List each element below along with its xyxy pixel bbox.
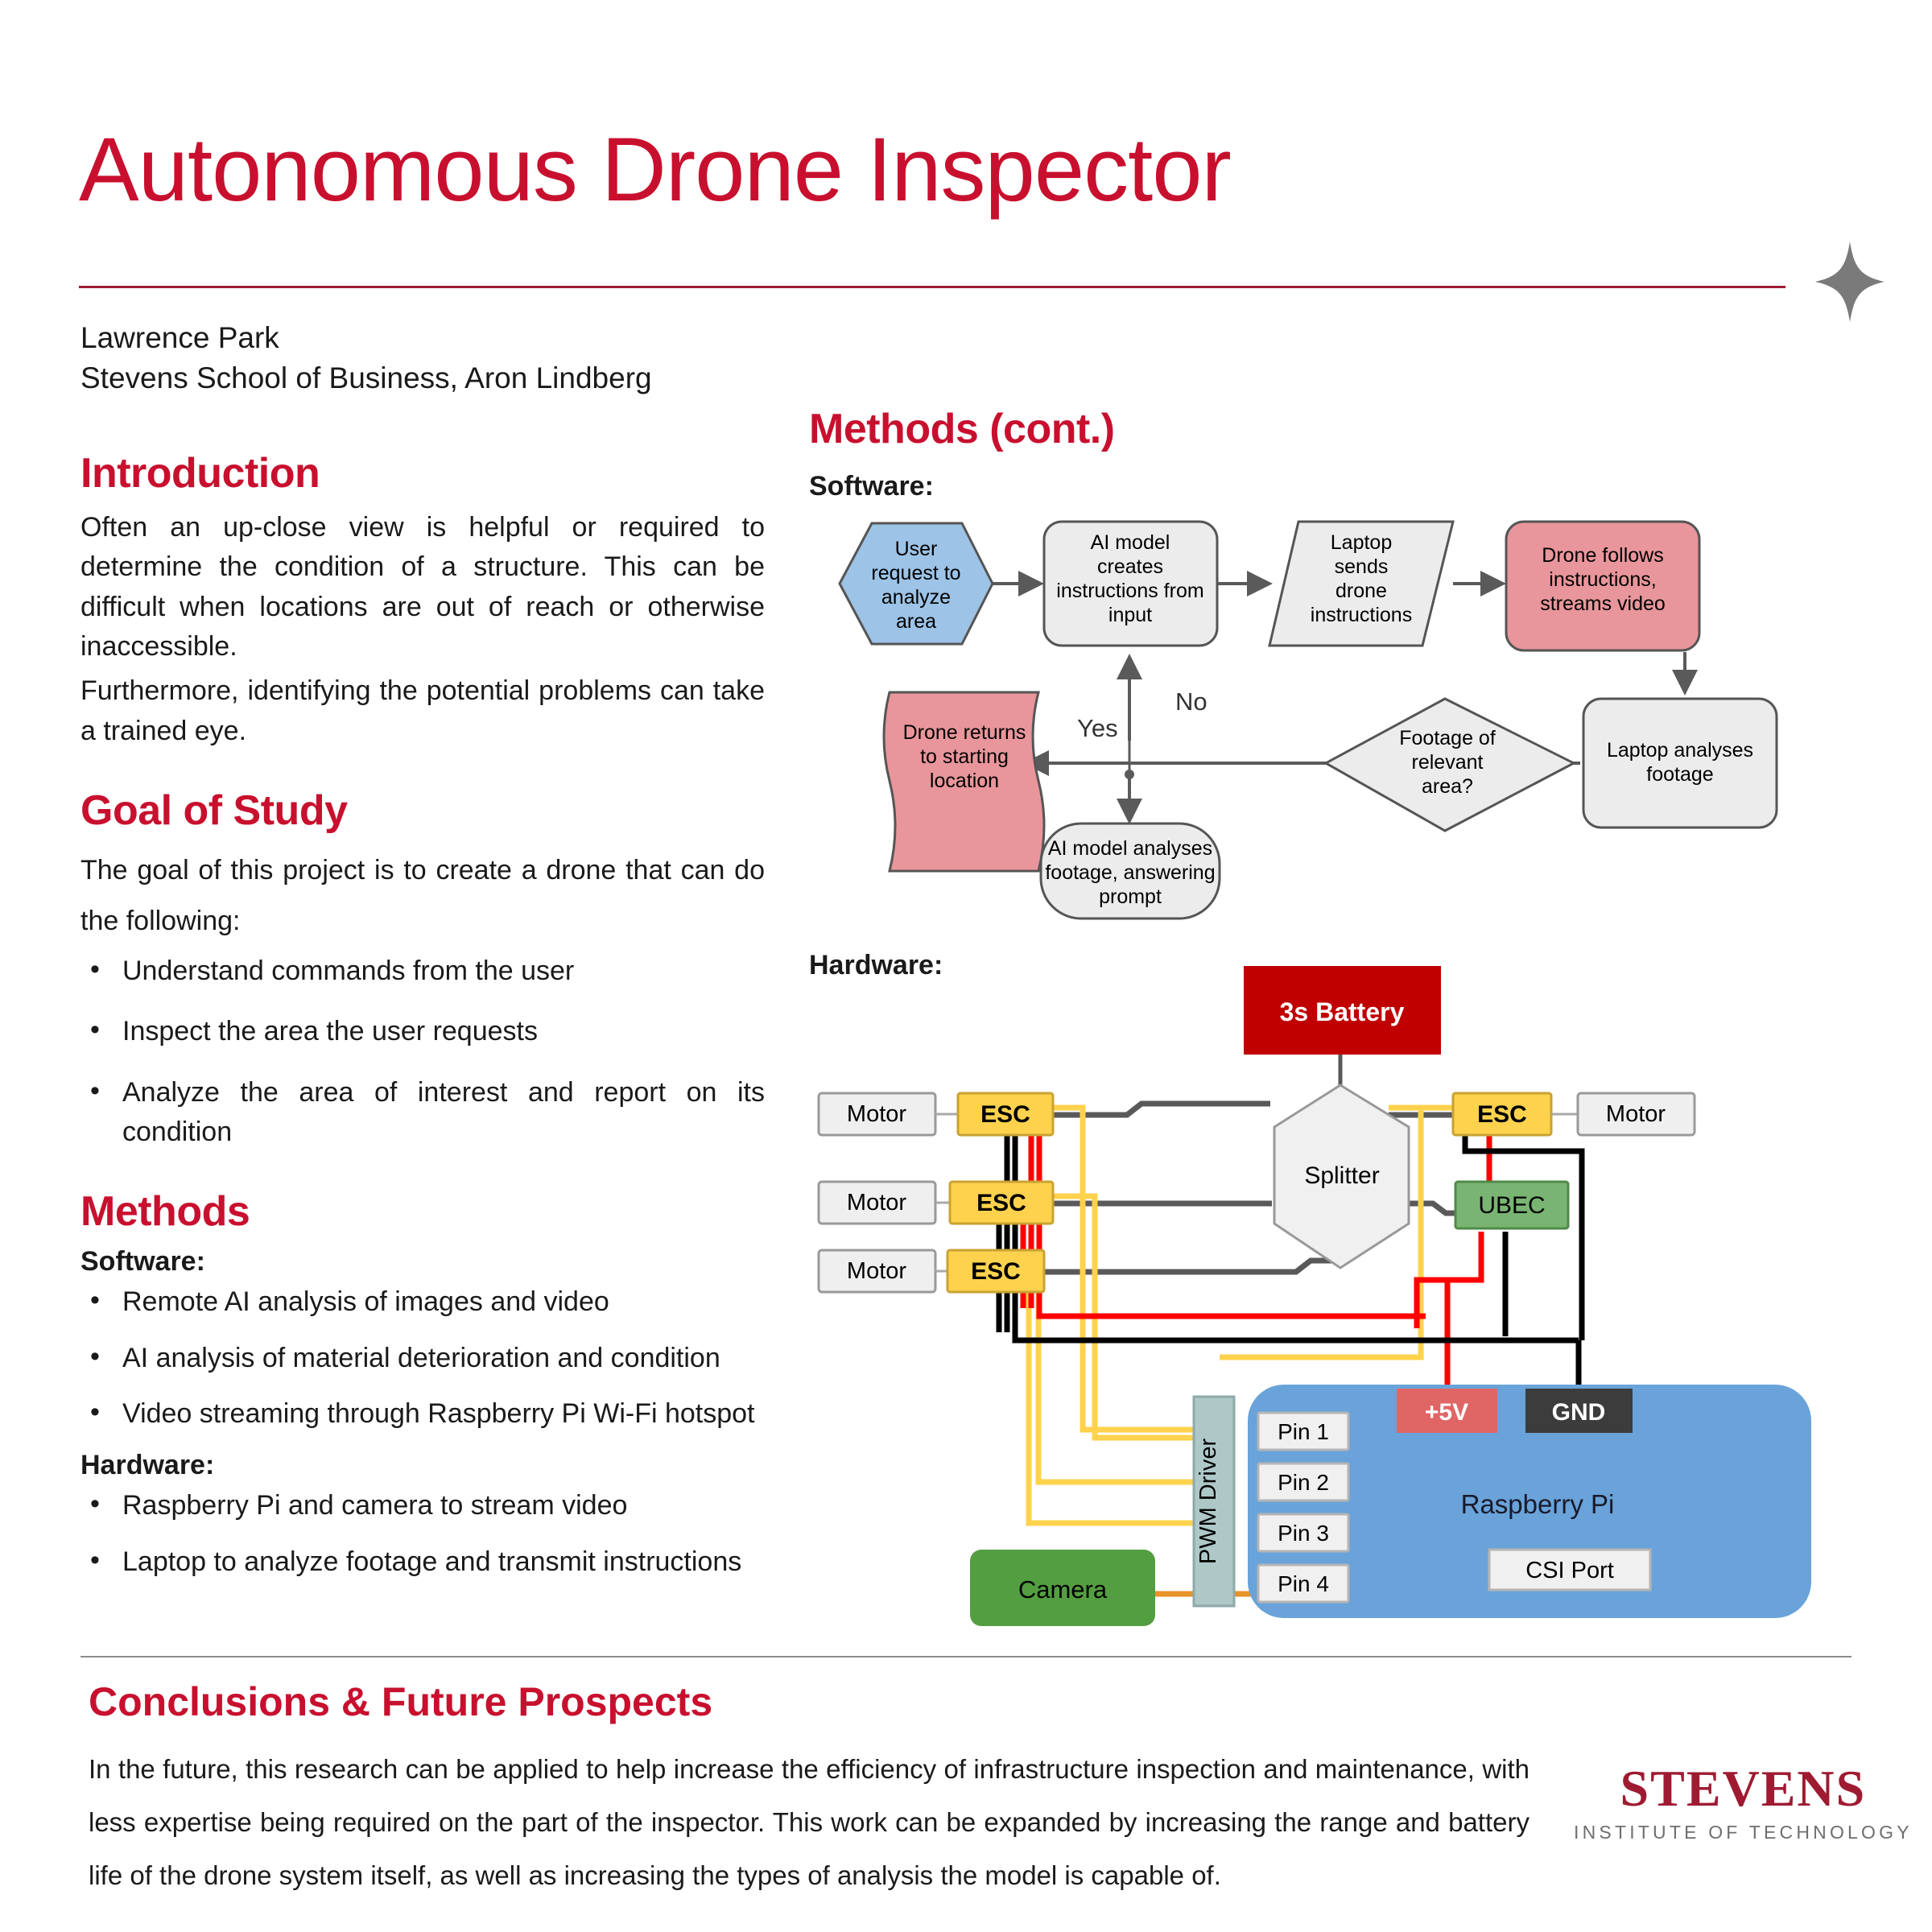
list-item: Laptop to analyze footage and transmit i… <box>80 1542 765 1582</box>
stevens-logo: STEVENS INSTITUTE OF TECHNOLOGY <box>1574 1763 1913 1843</box>
stevens-wordmark: STEVENS <box>1574 1763 1913 1814</box>
svg-text:Pin 1: Pin 1 <box>1278 1419 1329 1444</box>
svg-text:Pin 3: Pin 3 <box>1278 1521 1329 1546</box>
svg-text:instructions,: instructions, <box>1549 568 1656 591</box>
svg-text:CSI Port: CSI Port <box>1525 1558 1614 1583</box>
svg-text:ESC: ESC <box>971 1258 1021 1285</box>
svg-text:Footage of: Footage of <box>1399 727 1496 749</box>
sparkle-icon <box>1815 242 1885 322</box>
methods-hardware-list: Raspberry Pi and camera to stream video … <box>80 1486 765 1582</box>
methods-heading: Methods <box>80 1189 765 1235</box>
footer-divider <box>80 1656 1851 1657</box>
svg-text:Motor: Motor <box>847 1101 906 1127</box>
svg-text:Camera: Camera <box>1018 1575 1108 1604</box>
byline: Lawrence Park Stevens School of Business… <box>80 318 652 398</box>
methods-cont-software-label: Software: <box>809 471 934 502</box>
svg-text:ESC: ESC <box>976 1190 1026 1216</box>
goal-heading: Goal of Study <box>80 788 765 834</box>
introduction-paragraph-1: Often an up-close view is helpful or req… <box>80 508 765 667</box>
software-flowchart: User request to analyze area AI model cr… <box>809 499 1864 934</box>
svg-text:ESC: ESC <box>980 1101 1030 1128</box>
svg-text:input: input <box>1108 604 1152 626</box>
svg-text:footage: footage <box>1646 763 1713 786</box>
svg-text:Drone follows: Drone follows <box>1542 544 1663 567</box>
right-column: Methods (cont.) <box>809 407 1864 464</box>
svg-text:Drone returns: Drone returns <box>903 721 1026 744</box>
svg-text:footage, answering: footage, answering <box>1045 861 1215 884</box>
hw-battery-label: 3s Battery <box>1280 997 1405 1026</box>
introduction-heading: Introduction <box>80 451 765 497</box>
introduction-paragraph-2: Furthermore, identifying the potential p… <box>80 671 765 751</box>
stevens-tagline: INSTITUTE OF TECHNOLOGY <box>1574 1822 1913 1843</box>
list-item: AI analysis of material deterioration an… <box>80 1339 765 1378</box>
conclusions-text: In the future, this research can be appl… <box>89 1743 1529 1902</box>
svg-text:Motor: Motor <box>847 1258 906 1284</box>
svg-text:GND: GND <box>1552 1399 1606 1426</box>
svg-text:drone: drone <box>1335 580 1387 602</box>
svg-text:instructions: instructions <box>1311 604 1412 626</box>
flow-edge-label-no: No <box>1175 687 1207 716</box>
methods-hardware-label: Hardware: <box>80 1450 765 1481</box>
conclusions-heading: Conclusions & Future Prospects <box>89 1678 1529 1725</box>
left-column: Introduction Often an up-close view is h… <box>80 451 765 1598</box>
list-item: Understand commands from the user <box>80 952 765 991</box>
svg-text:Laptop analyses: Laptop analyses <box>1607 739 1753 762</box>
svg-text:request to: request to <box>871 562 960 584</box>
svg-text:to starting: to starting <box>920 745 1009 768</box>
list-item: Analyze the area of interest and report … <box>80 1073 765 1153</box>
goal-bullet-list: Understand commands from the user Inspec… <box>80 952 765 1152</box>
svg-text:streams video: streams video <box>1540 592 1666 615</box>
svg-text:area: area <box>896 610 936 633</box>
svg-text:+5V: +5V <box>1425 1399 1468 1426</box>
conclusions-section: Conclusions & Future Prospects In the fu… <box>89 1678 1529 1902</box>
svg-text:ESC: ESC <box>1477 1101 1527 1128</box>
list-item: Video streaming through Raspberry Pi Wi-… <box>80 1394 765 1434</box>
svg-text:UBEC: UBEC <box>1478 1192 1545 1219</box>
svg-text:Laptop: Laptop <box>1331 531 1392 554</box>
svg-text:creates: creates <box>1097 555 1163 578</box>
methods-software-label: Software: <box>80 1246 765 1278</box>
flowchart-svg: User request to analyze area AI model cr… <box>809 499 1864 934</box>
list-item: Remote AI analysis of images and video <box>80 1282 765 1322</box>
list-item: Inspect the area the user requests <box>80 1012 765 1051</box>
svg-text:location: location <box>930 770 999 792</box>
header-divider <box>79 286 1785 288</box>
flow-edge-label-yes: Yes <box>1077 714 1118 742</box>
hw-pwm-driver-label: PWM Driver <box>1195 1439 1221 1565</box>
author-name: Lawrence Park <box>80 318 652 358</box>
svg-text:area?: area? <box>1422 775 1473 798</box>
list-item: Raspberry Pi and camera to stream video <box>80 1486 765 1525</box>
svg-text:analyze: analyze <box>881 586 951 609</box>
methods-software-list: Remote AI analysis of images and video A… <box>80 1282 765 1434</box>
hw-splitter-label: Splitter <box>1304 1162 1379 1189</box>
affiliation: Stevens School of Business, Aron Lindber… <box>80 358 652 398</box>
hardware-diagram: 3s Battery Splitter Motor Motor Motor ES… <box>809 958 1880 1626</box>
svg-text:AI model analyses: AI model analyses <box>1048 837 1212 860</box>
svg-text:instructions from: instructions from <box>1056 580 1203 602</box>
svg-text:relevant: relevant <box>1412 751 1484 774</box>
goal-intro: The goal of this project is to create a … <box>80 845 765 947</box>
svg-text:prompt: prompt <box>1099 885 1162 908</box>
page-title: Autonomous Drone Inspector <box>79 125 1231 215</box>
hw-pi-label: Raspberry Pi <box>1461 1489 1615 1519</box>
svg-text:Motor: Motor <box>1606 1101 1666 1127</box>
svg-text:Pin 2: Pin 2 <box>1278 1470 1329 1495</box>
svg-text:Motor: Motor <box>847 1190 906 1216</box>
flow-node-user-request-line1: User <box>895 538 938 560</box>
poster-canvas: Autonomous Drone Inspector Lawrence Park… <box>0 0 1932 1932</box>
svg-text:sends: sends <box>1335 555 1389 578</box>
svg-text:Pin 4: Pin 4 <box>1278 1571 1329 1596</box>
methods-cont-heading: Methods (cont.) <box>809 407 1864 452</box>
svg-text:AI model: AI model <box>1091 531 1170 554</box>
hardware-svg: 3s Battery Splitter Motor Motor Motor ES… <box>809 958 1880 1626</box>
